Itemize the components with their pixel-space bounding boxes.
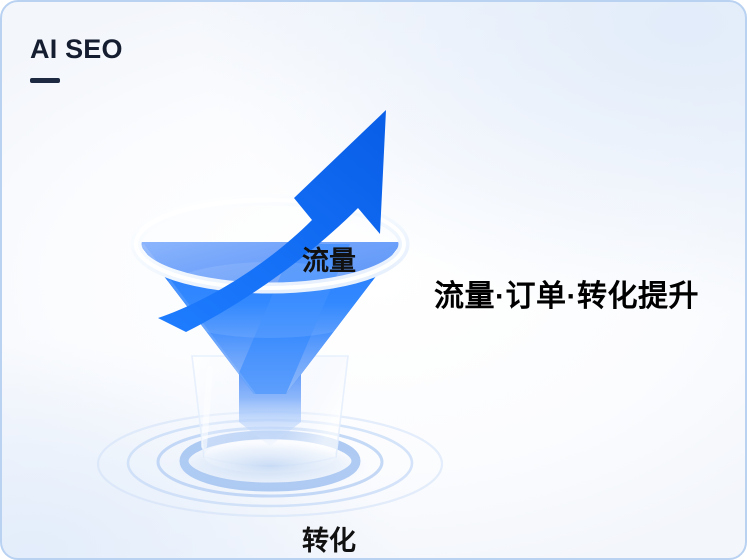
title-underline-rule	[30, 78, 60, 83]
funnel-label-conversion: 转化	[302, 528, 356, 555]
contact-shadow	[170, 442, 370, 490]
page-title: AI SEO	[30, 36, 123, 63]
funnel-illustration: 流量 转化	[80, 94, 460, 534]
brand-block: AI SEO	[30, 36, 123, 83]
funnel-label-traffic: 流量	[302, 248, 356, 275]
funnel-bowl	[120, 204, 420, 414]
tagline-text: 流量·订单·转化提升	[434, 279, 699, 315]
slide-canvas: AI SEO 流量·订单·转化提升	[0, 0, 747, 560]
